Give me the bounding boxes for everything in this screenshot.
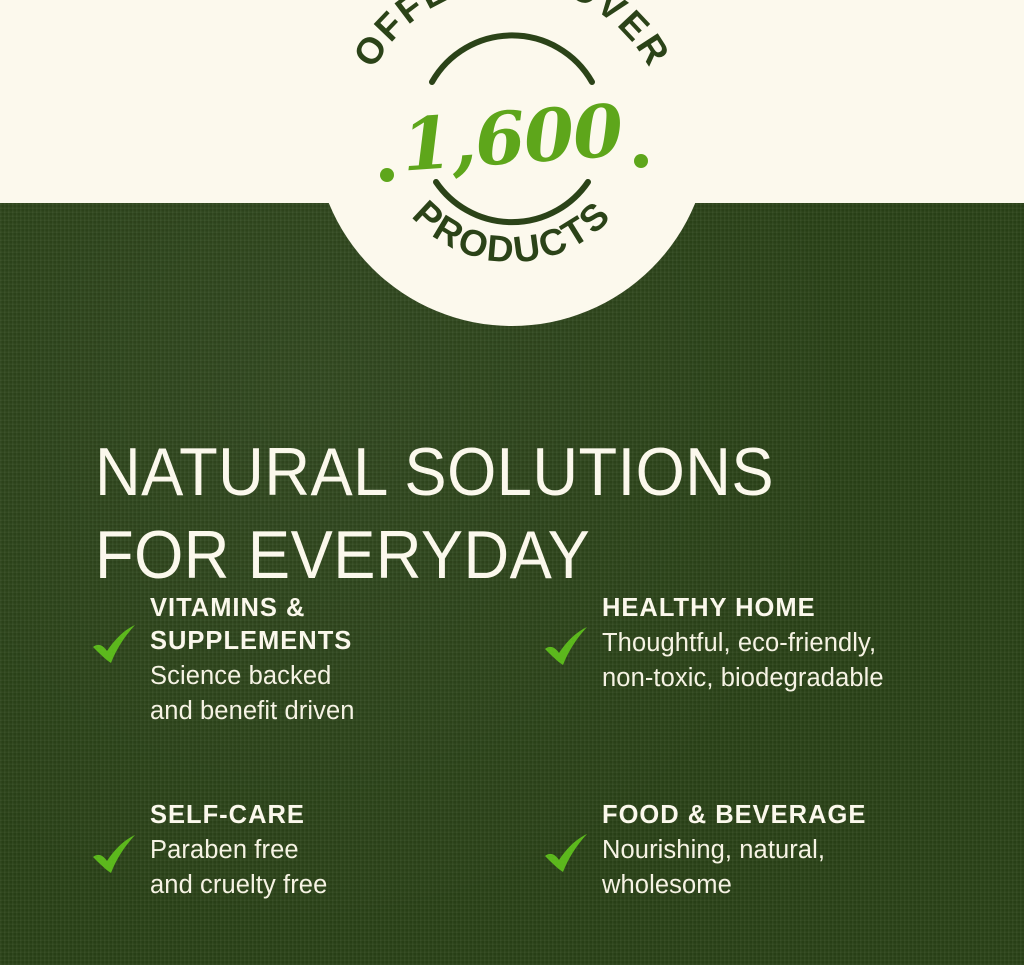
checkmark-icon [88,618,142,672]
headline-line-2: FOR EVERYDAY [95,514,913,597]
feature-item-self-care: SELF-CARE Paraben free and cruelty free [88,795,540,903]
feature-description: Thoughtful, eco-friendly, non-toxic, bio… [602,626,884,696]
feature-description: Science backed and benefit driven [150,659,355,729]
feature-text: VITAMINS & SUPPLEMENTS Science backed an… [150,590,355,729]
feature-item-healthy-home: HEALTHY HOME Thoughtful, eco-friendly, n… [540,590,1000,795]
promo-poster: OFFERING OVER PRODUCTS 1,600 NATURAL SOL… [0,0,1024,965]
page-title: NATURAL SOLUTIONS FOR EVERYDAY [95,431,913,597]
badge-bottom-arc-label: PRODUCTS [405,192,619,270]
feature-text: HEALTHY HOME Thoughtful, eco-friendly, n… [602,590,884,696]
offering-badge: OFFERING OVER PRODUCTS 1,600 [314,0,710,326]
feature-title: FOOD & BEVERAGE [602,799,866,832]
feature-description: Paraben free and cruelty free [150,833,327,903]
feature-description: Nourishing, natural, wholesome [602,833,866,903]
checkmark-icon [540,620,594,674]
headline-line-1: NATURAL SOLUTIONS [95,431,913,514]
feature-item-vitamins-supplements: VITAMINS & SUPPLEMENTS Science backed an… [88,590,540,795]
feature-grid: VITAMINS & SUPPLEMENTS Science backed an… [88,590,1000,903]
checkmark-icon [88,828,142,882]
badge-arc-top-decoration [432,35,592,82]
feature-title: SELF-CARE [150,799,327,832]
feature-text: FOOD & BEVERAGE Nourishing, natural, who… [602,795,866,903]
feature-title: VITAMINS & SUPPLEMENTS [150,592,355,658]
checkmark-icon [540,827,594,881]
feature-title: HEALTHY HOME [602,592,884,625]
feature-item-food-beverage: FOOD & BEVERAGE Nourishing, natural, who… [540,795,1000,903]
feature-text: SELF-CARE Paraben free and cruelty free [150,795,327,903]
